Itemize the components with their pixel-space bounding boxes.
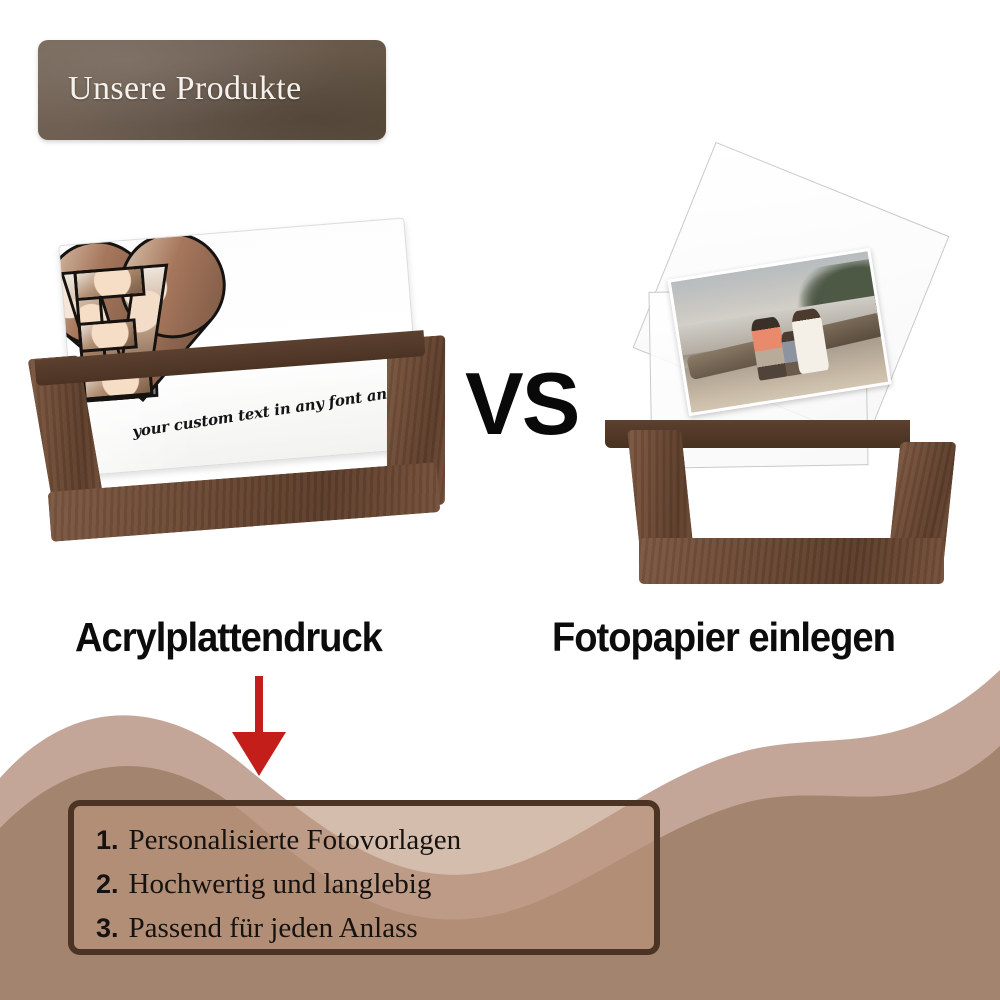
list-item: 3. Passend für jeden Anlass <box>96 906 644 950</box>
right-wood-stand <box>605 420 1000 605</box>
feature-list-box: 1. Personalisierte Fotovorlagen 2. Hochw… <box>68 800 660 955</box>
list-item-text: Passend für jeden Anlass <box>129 906 418 950</box>
right-product-photo-paper <box>605 175 1000 605</box>
list-item: 1. Personalisierte Fotovorlagen <box>96 818 644 862</box>
header-banner: Unsere Produkte <box>38 40 386 140</box>
left-product-acrylic-print: your custom text in any font and any col… <box>35 225 455 555</box>
page-title: Unsere Produkte <box>68 70 302 108</box>
left-wood-stand <box>35 345 455 550</box>
list-item-text: Personalisierte Fotovorlagen <box>129 818 462 862</box>
vs-label: VS <box>465 360 578 448</box>
infographic-canvas: Unsere Produkte <box>0 0 1000 1000</box>
list-item: 2. Hochwertig und langlebig <box>96 862 644 906</box>
list-item-number: 3. <box>96 908 119 949</box>
stand-base <box>48 462 441 542</box>
list-item-text: Hochwertig und langlebig <box>129 862 432 906</box>
right-product-label: Fotopapier einlegen <box>552 614 895 661</box>
list-item-number: 2. <box>96 864 119 905</box>
left-product-label: Acrylplattendruck <box>75 614 382 661</box>
list-item-number: 1. <box>96 820 119 861</box>
stand-base <box>639 538 944 584</box>
down-arrow-icon <box>229 676 289 774</box>
